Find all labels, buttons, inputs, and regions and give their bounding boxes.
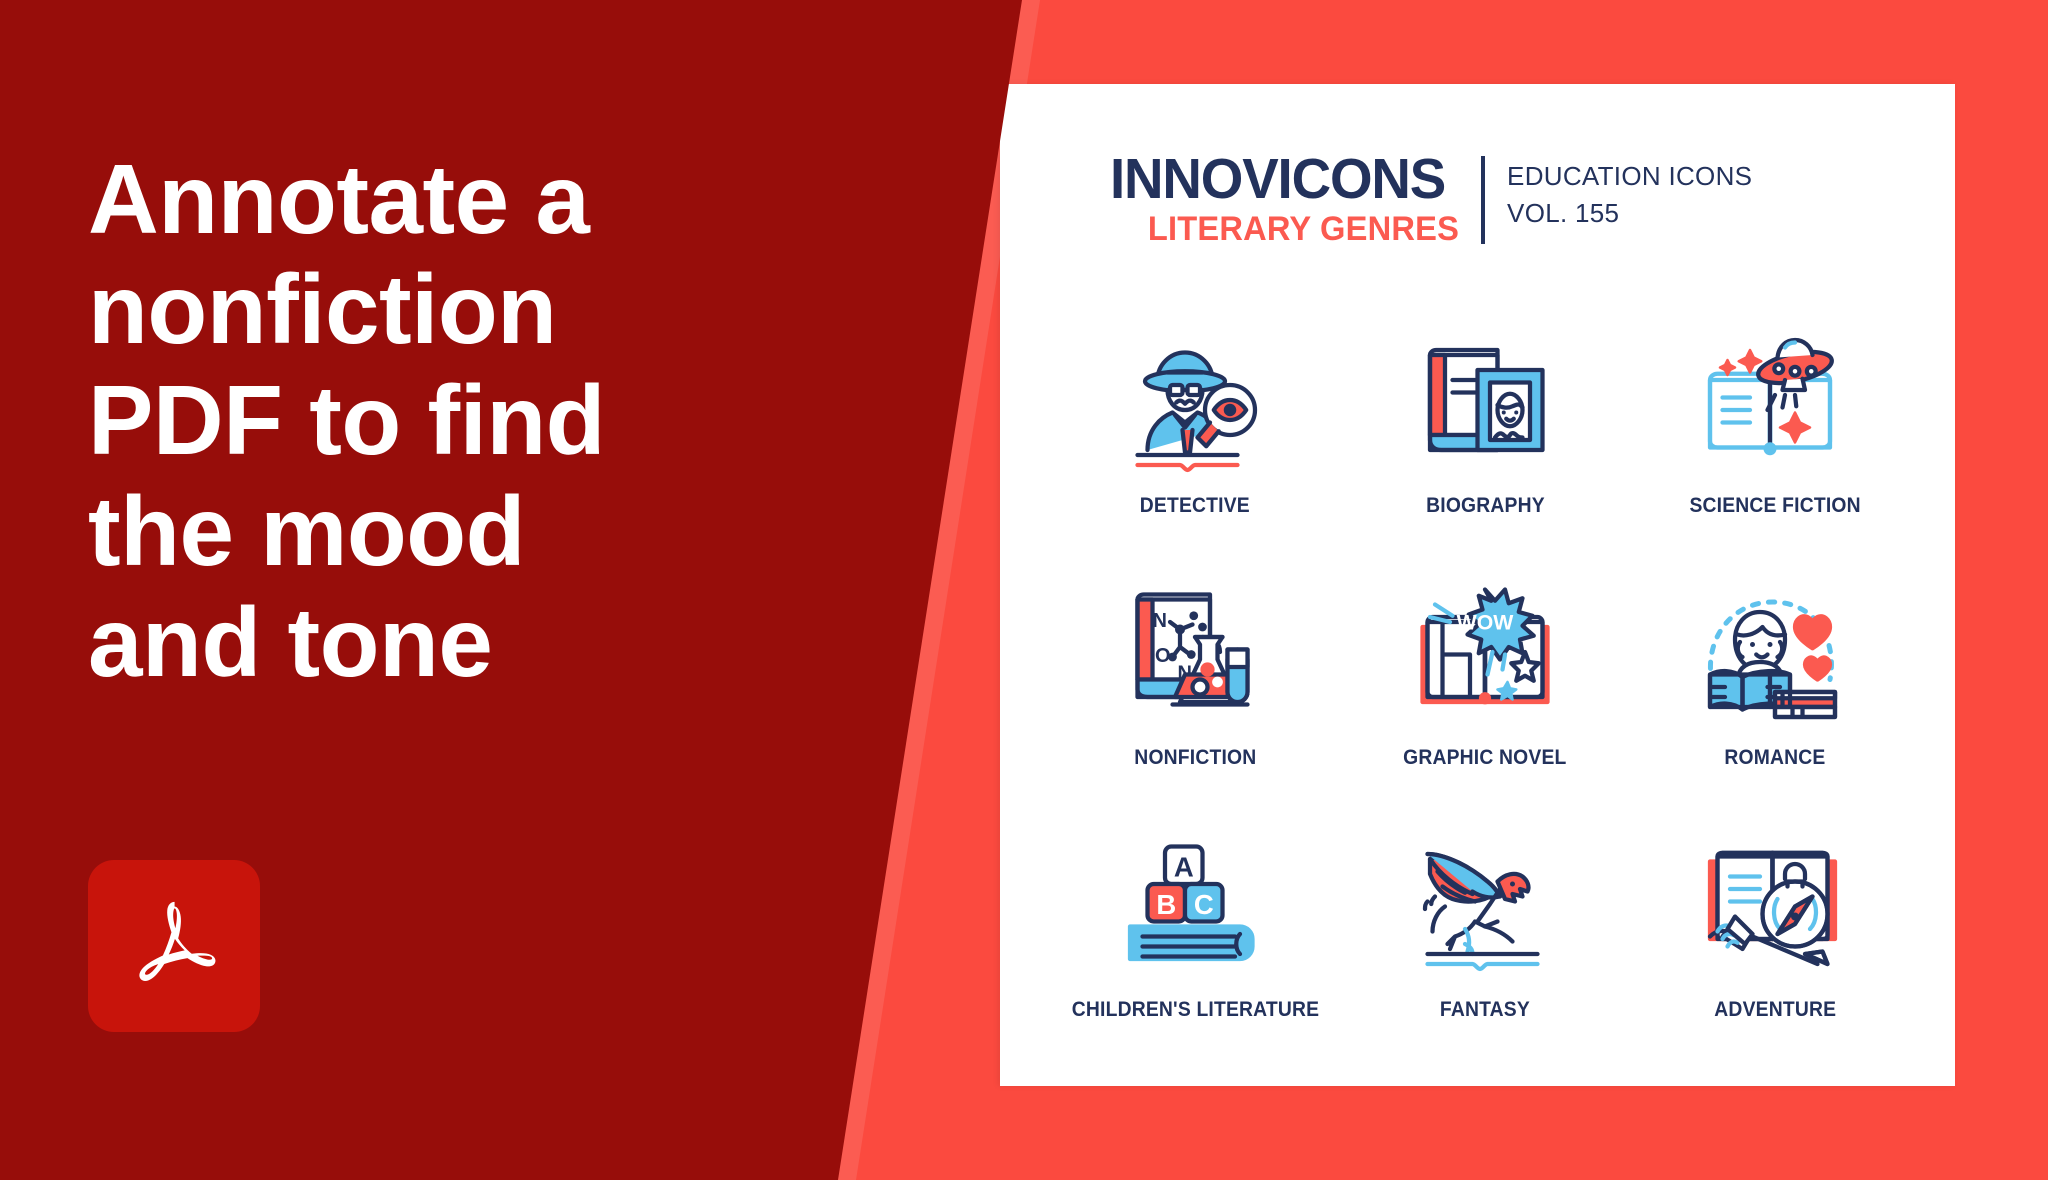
icon-cell-detective[interactable]: DETECTIVE — [1050, 310, 1340, 562]
svg-text:A: A — [1174, 852, 1194, 883]
nonfiction-icon: N O N — [1120, 562, 1270, 742]
icon-cell-biography[interactable]: BIOGRAPHY — [1340, 310, 1630, 562]
brand-lockup: INNOVICONS LITERARY GENRES — [1110, 152, 1459, 250]
icon-label: CHILDREN'S LITERATURE — [1071, 998, 1318, 1022]
svg-text:O: O — [1155, 645, 1171, 667]
svg-text:N: N — [1153, 610, 1167, 632]
biography-icon — [1410, 310, 1560, 490]
icon-sheet-content: INNOVICONS LITERARY GENRES EDUCATION ICO… — [1000, 84, 1955, 1086]
icon-cell-science-fiction[interactable]: SCIENCE FICTION — [1630, 310, 1920, 562]
adobe-acrobat-badge[interactable] — [88, 860, 260, 1032]
sheet-header: INNOVICONS LITERARY GENRES EDUCATION ICO… — [1110, 152, 1752, 250]
icon-cell-romance[interactable]: ROMANCE — [1630, 562, 1920, 814]
icon-label: ADVENTURE — [1714, 998, 1836, 1022]
icon-label: NONFICTION — [1134, 746, 1256, 770]
romance-icon — [1700, 562, 1850, 742]
svg-text:WOW: WOW — [1457, 611, 1515, 635]
icon-grid: DETECTIVE — [1050, 310, 1920, 1066]
childrens-literature-icon: A B C — [1120, 814, 1270, 994]
svg-text:C: C — [1194, 889, 1214, 920]
adventure-icon — [1700, 814, 1850, 994]
sheet-meta: EDUCATION ICONS VOL. 155 — [1507, 152, 1752, 232]
detective-icon — [1120, 310, 1270, 490]
svg-text:B: B — [1156, 889, 1176, 920]
icon-label: DETECTIVE — [1140, 494, 1250, 518]
icon-label: FANTASY — [1440, 998, 1530, 1022]
meta-line-2: VOL. 155 — [1507, 195, 1752, 232]
science-fiction-icon — [1700, 310, 1850, 490]
headline-line-3: PDF to find — [88, 365, 708, 476]
brand-subtitle: LITERARY GENRES — [1124, 208, 1459, 251]
fantasy-icon — [1410, 814, 1560, 994]
headline-line-2: nonfiction — [88, 254, 708, 365]
header-divider — [1481, 156, 1485, 244]
adobe-acrobat-icon — [116, 888, 232, 1004]
brand-name: INNOVICONS — [1110, 152, 1445, 208]
icon-cell-childrens-literature[interactable]: A B C CHILDREN'S LITERATURE — [1050, 814, 1340, 1066]
icon-cell-fantasy[interactable]: FANTASY — [1340, 814, 1630, 1066]
icon-label: GRAPHIC NOVEL — [1403, 746, 1566, 770]
page-title: Annotate a nonfiction PDF to find the mo… — [88, 144, 708, 698]
headline-line-4: the mood — [88, 476, 708, 587]
slide-canvas: INNOVICONS LITERARY GENRES EDUCATION ICO… — [0, 0, 2048, 1180]
headline-line-1: Annotate a — [88, 144, 708, 255]
headline-line-5: and tone — [88, 587, 708, 698]
icon-label: BIOGRAPHY — [1426, 494, 1545, 518]
icon-label: SCIENCE FICTION — [1689, 494, 1860, 518]
icon-cell-adventure[interactable]: ADVENTURE — [1630, 814, 1920, 1066]
graphic-novel-icon: WOW — [1410, 562, 1560, 742]
icon-cell-graphic-novel[interactable]: WOW GRAPHIC NOVEL — [1340, 562, 1630, 814]
icon-label: ROMANCE — [1724, 746, 1825, 770]
meta-line-1: EDUCATION ICONS — [1507, 158, 1752, 195]
icon-cell-nonfiction[interactable]: N O N — [1050, 562, 1340, 814]
